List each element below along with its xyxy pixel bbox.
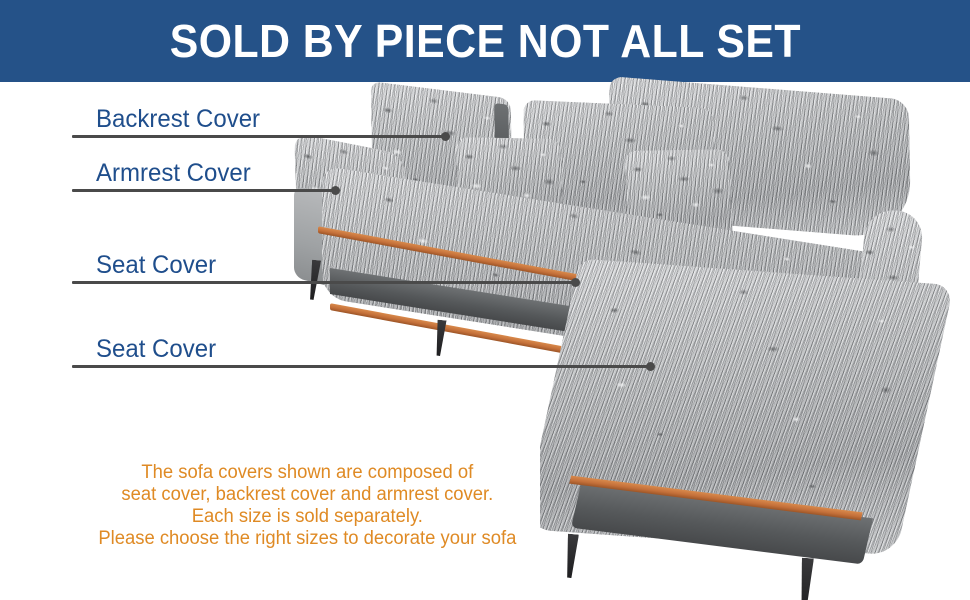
- callout-label-backrest: Backrest Cover: [96, 105, 260, 134]
- callout-label-seat-chaise: Seat Cover: [96, 335, 216, 364]
- header-banner: SOLD BY PIECE NOT ALL SET: [0, 0, 970, 82]
- sofa-leg-front-left: [308, 260, 321, 301]
- chaise-base-band: [571, 482, 873, 565]
- note-line-4: Please choose the right sizes to decorat…: [60, 528, 555, 550]
- note-line-2: seat cover, backrest cover and armrest c…: [60, 484, 555, 506]
- seat-cover-main: [322, 166, 882, 387]
- throw-pillow-left: [456, 137, 564, 247]
- backrest-cover-center: [523, 100, 714, 236]
- note-line-1: The sofa covers shown are composed of: [60, 462, 555, 484]
- seat-cover-chaise: [522, 259, 954, 556]
- callout-rule-seat-chaise: [72, 365, 650, 368]
- backrest-cover-right: [609, 76, 911, 240]
- note-line-3: Each size is sold separately.: [60, 506, 555, 528]
- backrest-cover-left: [371, 81, 514, 249]
- callout-label-seat-main: Seat Cover: [96, 251, 216, 280]
- callout-rule-backrest: [72, 135, 445, 138]
- callout-rule-seat-main: [72, 281, 575, 284]
- product-note: The sofa covers shown are composed of se…: [60, 462, 555, 550]
- callout-dot-armrest: [331, 186, 340, 195]
- sofa-leg-mid: [434, 320, 446, 357]
- callout-dot-backrest: [441, 132, 450, 141]
- callout-dot-seat-chaise: [646, 362, 655, 371]
- callout-dot-seat-main: [571, 278, 580, 287]
- callout-rule-armrest: [72, 189, 335, 192]
- left-arm-outer-panel: [294, 186, 330, 287]
- wood-trim-chaise: [569, 476, 862, 521]
- chaise-leg-right: [798, 558, 814, 600]
- sofa-back-rail: [330, 134, 890, 323]
- callout-label-armrest: Armrest Cover: [96, 159, 251, 188]
- product-infographic: SOLD BY PIECE NOT ALL SET: [0, 0, 970, 600]
- sofa-base-band-main: [330, 268, 860, 378]
- backrest-left-edge-trim: [494, 103, 510, 195]
- bolster-right-end-cap: [857, 418, 914, 457]
- armrest-bolster-right: [846, 209, 925, 451]
- banner-title: SOLD BY PIECE NOT ALL SET: [169, 18, 800, 64]
- wood-trim-main-lower: [330, 303, 620, 364]
- backrest-right-underside: [845, 149, 916, 241]
- chaise-leg-left: [564, 534, 579, 579]
- throw-pillow-right: [624, 149, 733, 255]
- armrest-cover-left: [294, 133, 408, 271]
